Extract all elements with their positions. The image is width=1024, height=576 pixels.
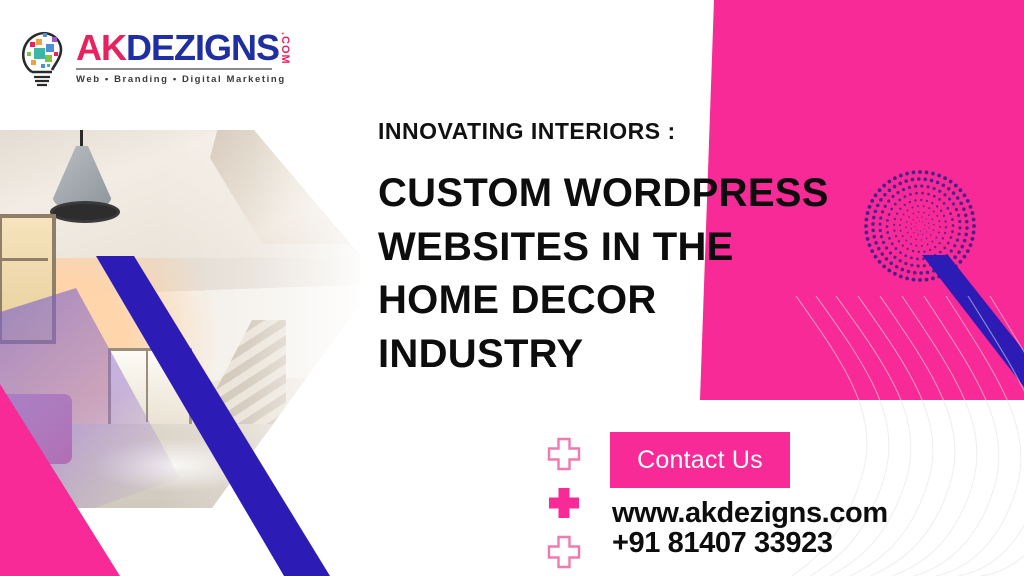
marketing-banner: AK DEZIGNS .COM Web • Branding • Digital… xyxy=(0,0,1024,576)
headline-line-4: INDUSTRY xyxy=(378,328,808,382)
headline-block: INNOVATING INTERIORS : CUSTOM WORDPRESS … xyxy=(378,118,808,381)
headline-line-1: CUSTOM WORDPRESS xyxy=(378,167,808,221)
logo-divider xyxy=(76,68,272,70)
pendant-lamp-cord-icon xyxy=(80,130,83,148)
headline-line-2: WEBSITES IN THE xyxy=(378,221,808,275)
logo-dotcom-text: .COM xyxy=(279,32,290,65)
logo-text: AK DEZIGNS .COM Web • Branding • Digital… xyxy=(76,30,290,85)
hero-window-mullion xyxy=(146,348,148,422)
logo-wordmark: AK DEZIGNS .COM xyxy=(76,30,290,66)
headline-eyebrow: INNOVATING INTERIORS : xyxy=(378,118,808,145)
lightbulb-pixel-icon xyxy=(14,22,70,92)
cross-icon-filled xyxy=(546,485,582,521)
hero-white-fade-overlay xyxy=(160,108,360,508)
pendant-lamp-rim-icon xyxy=(50,201,120,223)
brand-logo[interactable]: AK DEZIGNS .COM Web • Branding • Digital… xyxy=(14,22,290,92)
dotted-spiral-icon xyxy=(862,168,978,284)
logo-tagline: Web • Branding • Digital Marketing xyxy=(76,74,290,85)
hero-interior-image xyxy=(0,108,360,508)
headline-line-3: HOME DECOR xyxy=(378,274,808,328)
phone-number[interactable]: +91 81407 33923 xyxy=(612,527,833,560)
logo-ak-text: AK xyxy=(76,30,126,66)
contact-us-button[interactable]: Contact Us xyxy=(610,432,790,488)
logo-dezigns-text: DEZIGNS xyxy=(126,30,279,66)
website-url[interactable]: www.akdezigns.com xyxy=(612,497,888,530)
cross-icon-outline-1 xyxy=(546,436,582,472)
cross-icon-group xyxy=(546,436,582,570)
hero-wall-niche-bar xyxy=(0,258,48,261)
contact-us-button-label: Contact Us xyxy=(637,446,763,475)
cross-icon-outline-2 xyxy=(546,534,582,570)
